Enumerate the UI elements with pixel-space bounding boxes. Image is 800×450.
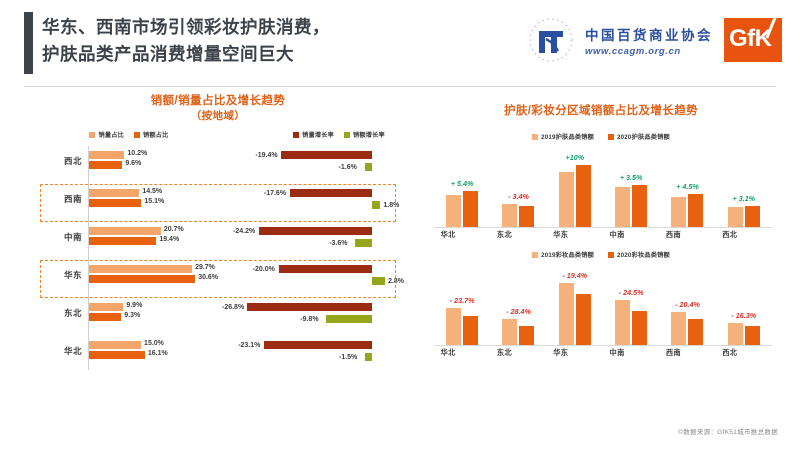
category-label: 西南: [645, 230, 701, 240]
makeup-legend: 2019彩妆品类销额 2020彩妆品类销额: [420, 250, 782, 259]
slide-header: 华东、西南市场引领彩妆护肤消费， 护肤品类产品消费增量空间巨大 中国百货商业协会…: [0, 0, 800, 88]
vertical-bar: [463, 316, 478, 345]
legend-item-volume-share: 销量占比: [89, 130, 124, 139]
growth-percent-label: + 3.1%: [699, 194, 789, 203]
left-chart-title: 销额/销量占比及增长趋势: [22, 94, 414, 109]
region-label: 东北: [22, 307, 82, 319]
page-title: 华东、西南市场引领彩妆护肤消费， 护肤品类产品消费增量空间巨大: [42, 14, 522, 68]
bar-value-label: 16.1%: [148, 350, 168, 357]
share-bar: 20.7%: [89, 227, 161, 235]
share-bar: 15.1%: [89, 199, 141, 207]
growth-value-label: -19.4%: [255, 152, 277, 159]
legend-label: 销量增长率: [302, 130, 334, 139]
region-row: 中南20.7%19.4%-24.2%-3.6%: [22, 222, 414, 260]
share-bar-group: 20.7%19.4%: [89, 227, 219, 247]
share-bar: 15.0%: [89, 341, 141, 349]
legend-item-2020-skincare: 2020护肤品类销额: [608, 132, 670, 141]
growth-value-label: -24.2%: [233, 228, 255, 235]
share-bar: 29.7%: [89, 265, 192, 273]
vertical-bar: [728, 207, 743, 227]
legend-item-2019-makeup: 2019彩妆品类销额: [532, 250, 594, 259]
bar-value-label: 29.7%: [195, 264, 215, 271]
bar-value-label: 9.9%: [126, 302, 142, 309]
skincare-baseline: [434, 227, 772, 228]
ccagm-logo-icon: [524, 13, 578, 67]
bar-value-label: 19.4%: [159, 236, 179, 243]
growth-value-label: 2.8%: [388, 278, 404, 285]
vertical-bar: [446, 308, 461, 345]
vertical-bar: [519, 326, 534, 345]
growth-bar: [355, 239, 372, 247]
legend-item-value-share: 销额占比: [134, 130, 169, 139]
legend-label: 销额增长率: [353, 130, 385, 139]
gfk-logo-icon: GfK: [724, 18, 782, 62]
skincare-legend: 2019护肤品类销额 2020护肤品类销额: [420, 132, 782, 141]
vertical-bar: [728, 323, 743, 345]
growth-percent-label: - 19.4%: [530, 271, 620, 280]
category-label: 华东: [533, 230, 589, 240]
growth-bar: [365, 353, 372, 361]
skincare-chart-block: 2019护肤品类销额 2020护肤品类销额 + 5.4%- 3.4%+10%+ …: [420, 132, 782, 244]
legend-item-value-growth: 销额增长率: [344, 130, 385, 139]
category-label: 东北: [476, 230, 532, 240]
category-label: 中南: [589, 348, 645, 358]
right-chart-title-wrap: 护肤/彩妆分区域销额占比及增长趋势: [420, 104, 782, 119]
region-label: 华北: [22, 345, 82, 357]
region-label: 西南: [22, 193, 82, 205]
legend-label: 2020彩妆品类销额: [617, 250, 670, 259]
bar-value-label: 15.1%: [144, 198, 164, 205]
growth-value-label: -17.6%: [264, 190, 286, 197]
vertical-bar: [745, 206, 760, 227]
category-label: 华北: [420, 348, 476, 358]
growth-value-label: 1.8%: [383, 202, 399, 209]
bar-group: + 3.5%: [603, 165, 659, 227]
bar-group: - 3.4%: [490, 165, 546, 227]
left-chart-legends: 销量占比 销额占比 销量增长率 销额增长率: [22, 130, 414, 139]
share-bar-group: 9.9%9.3%: [89, 303, 219, 323]
growth-bar: [264, 341, 372, 349]
share-bar-group: 29.7%30.6%: [89, 265, 219, 285]
vertical-bar: [688, 319, 703, 345]
bar-value-label: 30.6%: [198, 274, 218, 281]
growth-bar-group: -23.1%-1.5%: [222, 341, 407, 369]
makeup-plot: - 23.7%- 28.4%- 19.4%- 24.5%- 20.4%- 16.…: [434, 266, 772, 346]
vertical-bar: [446, 195, 461, 227]
category-label: 西北: [702, 230, 758, 240]
makeup-baseline: [434, 345, 772, 346]
left-chart-plot: 西北10.2%9.6%-19.4%-1.6%西南14.5%15.1%-17.6%…: [22, 146, 414, 376]
legend-swatch-icon: [608, 134, 614, 140]
region-label: 中南: [22, 231, 82, 243]
bar-group: - 24.5%: [603, 283, 659, 345]
bar-value-label: 15.0%: [144, 340, 164, 347]
vertical-bar: [745, 326, 760, 345]
category-label: 西南: [645, 348, 701, 358]
growth-value-label: -1.5%: [339, 354, 357, 361]
legend-label: 销量占比: [98, 130, 124, 139]
share-bar: 16.1%: [89, 351, 145, 359]
growth-bar: [372, 277, 385, 285]
legend-label: 2019护肤品类销额: [541, 132, 594, 141]
bar-value-label: 20.7%: [164, 226, 184, 233]
bar-value-label: 14.5%: [142, 188, 162, 195]
bar-value-label: 9.3%: [124, 312, 140, 319]
vertical-bar: [632, 185, 647, 227]
legend-label: 2020护肤品类销额: [617, 132, 670, 141]
growth-bar: [259, 227, 372, 235]
growth-bar: [279, 265, 372, 273]
bar-group: - 16.3%: [716, 283, 772, 345]
growth-value-label: -3.6%: [329, 240, 347, 247]
growth-percent-label: +10%: [530, 153, 620, 162]
share-bar-group: 10.2%9.6%: [89, 151, 219, 171]
region-label: 西北: [22, 155, 82, 167]
ccagm-name: 中国百货商业协会: [585, 24, 713, 44]
page-title-line-2: 护肤品类产品消费增量空间巨大: [42, 41, 522, 68]
legend-swatch-icon: [293, 132, 299, 138]
right-chart-panel: 护肤/彩妆分区域销额占比及增长趋势 2019护肤品类销额 2020护肤品类销额 …: [420, 94, 782, 394]
legend-item-2020-makeup: 2020彩妆品类销额: [608, 250, 670, 259]
left-chart-panel: 销额/销量占比及增长趋势 （按地域） 销量占比 销额占比 销量增长率: [22, 94, 414, 394]
region-row: 西北10.2%9.6%-19.4%-1.6%: [22, 146, 414, 184]
gfk-wordmark: GfK: [729, 25, 772, 53]
vertical-bar: [519, 206, 534, 227]
growth-bar-group: -24.2%-3.6%: [222, 227, 407, 255]
region-row: 东北9.9%9.3%-26.8%-9.8%: [22, 298, 414, 336]
region-row: 华北15.0%16.1%-23.1%-1.5%: [22, 336, 414, 374]
legend-label: 销额占比: [143, 130, 169, 139]
vertical-bar: [502, 319, 517, 345]
region-label: 华东: [22, 269, 82, 281]
growth-bar: [365, 163, 372, 171]
share-bar-group: 14.5%15.1%: [89, 189, 219, 209]
category-label: 东北: [476, 348, 532, 358]
vertical-bar: [559, 172, 574, 227]
vertical-bar: [615, 300, 630, 345]
legend-item-2019-skincare: 2019护肤品类销额: [532, 132, 594, 141]
legend-item-volume-growth: 销量增长率: [293, 130, 334, 139]
legend-swatch-icon: [532, 252, 538, 258]
left-chart-subtitle: （按地域）: [22, 109, 414, 124]
makeup-chart-block: 2019彩妆品类销额 2020彩妆品类销额 - 23.7%- 28.4%- 19…: [420, 250, 782, 362]
share-bar: 14.5%: [89, 189, 139, 197]
legend-swatch-icon: [89, 132, 95, 138]
category-label: 华北: [420, 230, 476, 240]
growth-value-label: -20.0%: [253, 266, 275, 273]
legend-label: 2019彩妆品类销额: [541, 250, 594, 259]
vertical-bar: [615, 187, 630, 227]
ccagm-url: www.ccagm.org.cn: [585, 46, 713, 57]
share-bar: 9.9%: [89, 303, 123, 311]
category-label: 华东: [533, 348, 589, 358]
right-chart-title: 护肤/彩妆分区域销额占比及增长趋势: [420, 104, 782, 119]
left-chart-legend-share: 销量占比 销额占比: [22, 130, 218, 139]
share-bar-group: 15.0%16.1%: [89, 341, 219, 361]
growth-bar: [372, 201, 380, 209]
bar-group: + 3.1%: [716, 165, 772, 227]
bar-value-label: 10.2%: [127, 150, 147, 157]
share-bar: 9.3%: [89, 313, 121, 321]
growth-bar: [247, 303, 372, 311]
growth-value-label: -9.8%: [300, 316, 318, 323]
skincare-category-axis: 华北东北华东中南西南西北: [420, 230, 758, 240]
skincare-bar-groups: + 5.4%- 3.4%+10%+ 3.5%+ 4.5%+ 3.1%: [434, 165, 772, 227]
growth-bar: [326, 315, 372, 323]
slide-root: 华东、西南市场引领彩妆护肤消费， 护肤品类产品消费增量空间巨大 中国百货商业协会…: [0, 0, 800, 450]
share-bar: 9.6%: [89, 161, 122, 169]
share-bar: 19.4%: [89, 237, 156, 245]
left-chart-legend-growth: 销量增长率 销额增长率: [218, 130, 414, 139]
logo-group: 中国百货商业协会 www.ccagm.org.cn GfK: [524, 10, 782, 70]
bar-value-label: 9.6%: [125, 160, 141, 167]
growth-bar-group: -17.6%1.8%: [222, 189, 407, 217]
growth-bar: [281, 151, 372, 159]
makeup-category-axis: 华北东北华东中南西南西北: [420, 348, 758, 358]
growth-bar-group: -26.8%-9.8%: [222, 303, 407, 331]
growth-value-label: -26.8%: [222, 304, 244, 311]
vertical-bar: [559, 283, 574, 345]
ccagm-logo-text: 中国百货商业协会 www.ccagm.org.cn: [585, 24, 713, 57]
legend-swatch-icon: [532, 134, 538, 140]
region-row: 西南14.5%15.1%-17.6%1.8%: [22, 184, 414, 222]
growth-percent-label: - 16.3%: [699, 311, 789, 320]
category-label: 西北: [702, 348, 758, 358]
category-label: 中南: [589, 230, 645, 240]
vertical-bar: [671, 197, 686, 227]
vertical-bar: [632, 311, 647, 345]
share-bar: 30.6%: [89, 275, 195, 283]
bar-group: - 28.4%: [490, 283, 546, 345]
makeup-bar-groups: - 23.7%- 28.4%- 19.4%- 24.5%- 20.4%- 16.…: [434, 283, 772, 345]
growth-value-label: -23.1%: [238, 342, 260, 349]
page-title-line-1: 华东、西南市场引领彩妆护肤消费，: [42, 14, 522, 41]
source-note: ©数据来源：GfK51城市推总数据: [678, 426, 778, 436]
header-divider: [24, 86, 776, 87]
growth-bar-group: -20.0%2.8%: [222, 265, 407, 293]
region-row: 华东29.7%30.6%-20.0%2.8%: [22, 260, 414, 298]
growth-bar: [290, 189, 372, 197]
vertical-bar: [576, 294, 591, 345]
vertical-bar: [502, 204, 517, 227]
growth-bar-group: -19.4%-1.6%: [222, 151, 407, 179]
vertical-bar: [671, 312, 686, 345]
growth-value-label: -1.6%: [339, 164, 357, 171]
skincare-plot: + 5.4%- 3.4%+10%+ 3.5%+ 4.5%+ 3.1%: [434, 148, 772, 228]
share-bar: 10.2%: [89, 151, 124, 159]
legend-swatch-icon: [608, 252, 614, 258]
title-accent-bar: [24, 12, 33, 74]
legend-swatch-icon: [134, 132, 140, 138]
legend-swatch-icon: [344, 132, 350, 138]
